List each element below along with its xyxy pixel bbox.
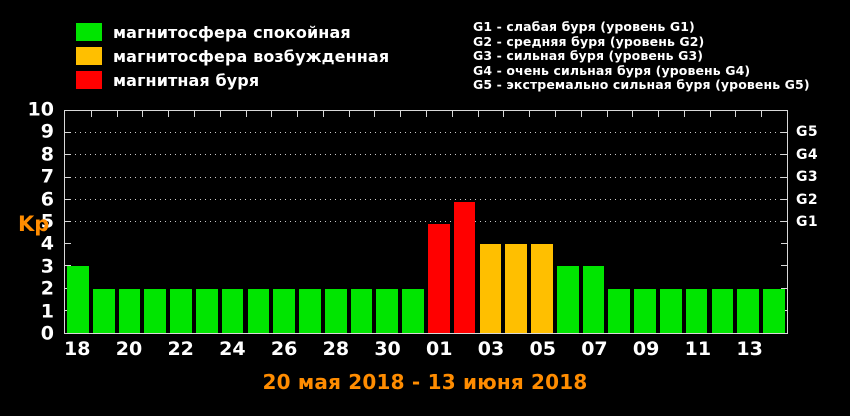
- bar-30: [376, 289, 398, 333]
- x-tick-blank: [142, 336, 167, 366]
- x-tick-label-26: 26: [271, 336, 297, 366]
- legend-swatch-storm: [76, 71, 102, 89]
- bar-slot: [400, 111, 426, 333]
- x-tick-blank: [401, 336, 426, 366]
- right-axis-storm-levels: G1G2G3G4G5: [792, 110, 850, 334]
- bar-06: [557, 266, 579, 333]
- x-tick-blank: [90, 336, 115, 366]
- chart-date-range-caption: 20 мая 2018 - 13 июня 2018: [0, 370, 850, 394]
- bar-slot: [220, 111, 246, 333]
- x-tick-blank: [608, 336, 633, 366]
- legend-g-level-3: G3 - сильная буря (уровень G3): [473, 49, 810, 64]
- bar-18: [67, 266, 89, 333]
- bar-slot: [452, 111, 478, 333]
- right-tick-label-G5: G5: [796, 125, 818, 139]
- y-tick-label-4: 4: [41, 235, 54, 254]
- y-tick-label-7: 7: [41, 168, 54, 187]
- bar-slot: [194, 111, 220, 333]
- x-tick-blank: [556, 336, 581, 366]
- x-tick-label-28: 28: [323, 336, 349, 366]
- bar-slot: [735, 111, 761, 333]
- bar-21: [144, 289, 166, 333]
- y-tick-label-10: 10: [28, 101, 54, 120]
- legend-label-storm: магнитная буря: [113, 71, 259, 90]
- y-tick-label-2: 2: [41, 280, 54, 299]
- y-tick-label-3: 3: [41, 257, 54, 276]
- x-tick-label-03: 03: [478, 336, 504, 366]
- x-tick-blank: [763, 336, 788, 366]
- bar-26: [273, 289, 295, 333]
- x-tick-blank: [711, 336, 736, 366]
- bar-slot: [710, 111, 736, 333]
- legend-item-storm: магнитная буря: [76, 68, 389, 92]
- bar-slot: [168, 111, 194, 333]
- bar-04: [505, 244, 527, 333]
- legend-swatch-unsettled: [76, 47, 102, 65]
- y-tick-label-0: 0: [41, 325, 54, 344]
- bar-01: [428, 224, 450, 333]
- x-tick-label-18: 18: [64, 336, 90, 366]
- x-tick-label-01: 01: [426, 336, 452, 366]
- bar-29: [351, 289, 373, 333]
- bar-08: [608, 289, 630, 333]
- bar-slot: [142, 111, 168, 333]
- bar-12: [712, 289, 734, 333]
- x-axis-days: 1820222426283001030507091113: [64, 336, 788, 366]
- right-tick-label-G1: G1: [796, 215, 818, 229]
- bar-slot: [323, 111, 349, 333]
- bar-31: [402, 289, 424, 333]
- legend-g-level-5: G5 - экстремально сильная буря (уровень …: [473, 78, 810, 93]
- x-tick-blank: [297, 336, 322, 366]
- bar-02: [454, 202, 476, 333]
- bar-24: [222, 289, 244, 333]
- bar-slot: [632, 111, 658, 333]
- y-tick-label-9: 9: [41, 123, 54, 142]
- bar-slot: [555, 111, 581, 333]
- bar-27: [299, 289, 321, 333]
- x-tick-blank: [659, 336, 684, 366]
- bar-slot: [91, 111, 117, 333]
- x-tick-blank: [452, 336, 477, 366]
- y-tick-label-6: 6: [41, 190, 54, 209]
- legend-item-unsettled: магнитосфера возбужденная: [76, 44, 389, 68]
- legend-g-level-descriptions: G1 - слабая буря (уровень G1)G2 - средня…: [473, 20, 810, 93]
- bar-13: [737, 289, 759, 333]
- x-tick-blank: [194, 336, 219, 366]
- x-tick-label-30: 30: [374, 336, 400, 366]
- bar-slot: [606, 111, 632, 333]
- legend-label-quiet: магнитосфера спокойная: [113, 23, 351, 42]
- bar-slot: [761, 111, 787, 333]
- bar-slot: [349, 111, 375, 333]
- legend-color-key: магнитосфера спокойная магнитосфера возб…: [76, 20, 389, 92]
- bar-slot: [581, 111, 607, 333]
- bar-14: [763, 289, 785, 333]
- right-tick-label-G3: G3: [796, 170, 818, 184]
- legend-label-unsettled: магнитосфера возбужденная: [113, 47, 389, 66]
- bar-slot: [271, 111, 297, 333]
- x-tick-label-22: 22: [167, 336, 193, 366]
- bar-slot: [684, 111, 710, 333]
- bar-09: [634, 289, 656, 333]
- chart-plot-area: [64, 110, 788, 334]
- bar-10: [660, 289, 682, 333]
- legend-g-level-2: G2 - средняя буря (уровень G2): [473, 35, 810, 50]
- bar-11: [686, 289, 708, 333]
- right-tick-label-G2: G2: [796, 193, 818, 207]
- bar-slot: [478, 111, 504, 333]
- bar-slot: [658, 111, 684, 333]
- right-tick-label-G4: G4: [796, 148, 818, 162]
- bar-05: [531, 244, 553, 333]
- bar-slot: [297, 111, 323, 333]
- bar-22: [170, 289, 192, 333]
- legend-g-level-1: G1 - слабая буря (уровень G1): [473, 20, 810, 35]
- legend-swatch-quiet: [76, 23, 102, 41]
- bar-23: [196, 289, 218, 333]
- bar-series-kp: [65, 111, 787, 333]
- y-axis-title: Kp: [18, 212, 49, 236]
- bar-25: [248, 289, 270, 333]
- bar-07: [583, 266, 605, 333]
- bar-slot: [65, 111, 91, 333]
- x-tick-label-05: 05: [529, 336, 555, 366]
- bar-19: [93, 289, 115, 333]
- legend-g-level-4: G4 - очень сильная буря (уровень G4): [473, 64, 810, 79]
- bar-slot: [426, 111, 452, 333]
- x-tick-label-09: 09: [633, 336, 659, 366]
- x-tick-label-07: 07: [581, 336, 607, 366]
- bar-28: [325, 289, 347, 333]
- bar-slot: [503, 111, 529, 333]
- x-tick-blank: [246, 336, 271, 366]
- bar-slot: [117, 111, 143, 333]
- y-tick-label-8: 8: [41, 145, 54, 164]
- x-tick-blank: [349, 336, 374, 366]
- x-tick-label-20: 20: [116, 336, 142, 366]
- x-tick-label-24: 24: [219, 336, 245, 366]
- legend-item-quiet: магнитосфера спокойная: [76, 20, 389, 44]
- x-tick-label-11: 11: [685, 336, 711, 366]
- bar-20: [119, 289, 141, 333]
- bar-slot: [374, 111, 400, 333]
- x-tick-label-13: 13: [736, 336, 762, 366]
- x-tick-blank: [504, 336, 529, 366]
- bar-slot: [529, 111, 555, 333]
- y-tick-label-1: 1: [41, 302, 54, 321]
- bar-03: [480, 244, 502, 333]
- bar-slot: [245, 111, 271, 333]
